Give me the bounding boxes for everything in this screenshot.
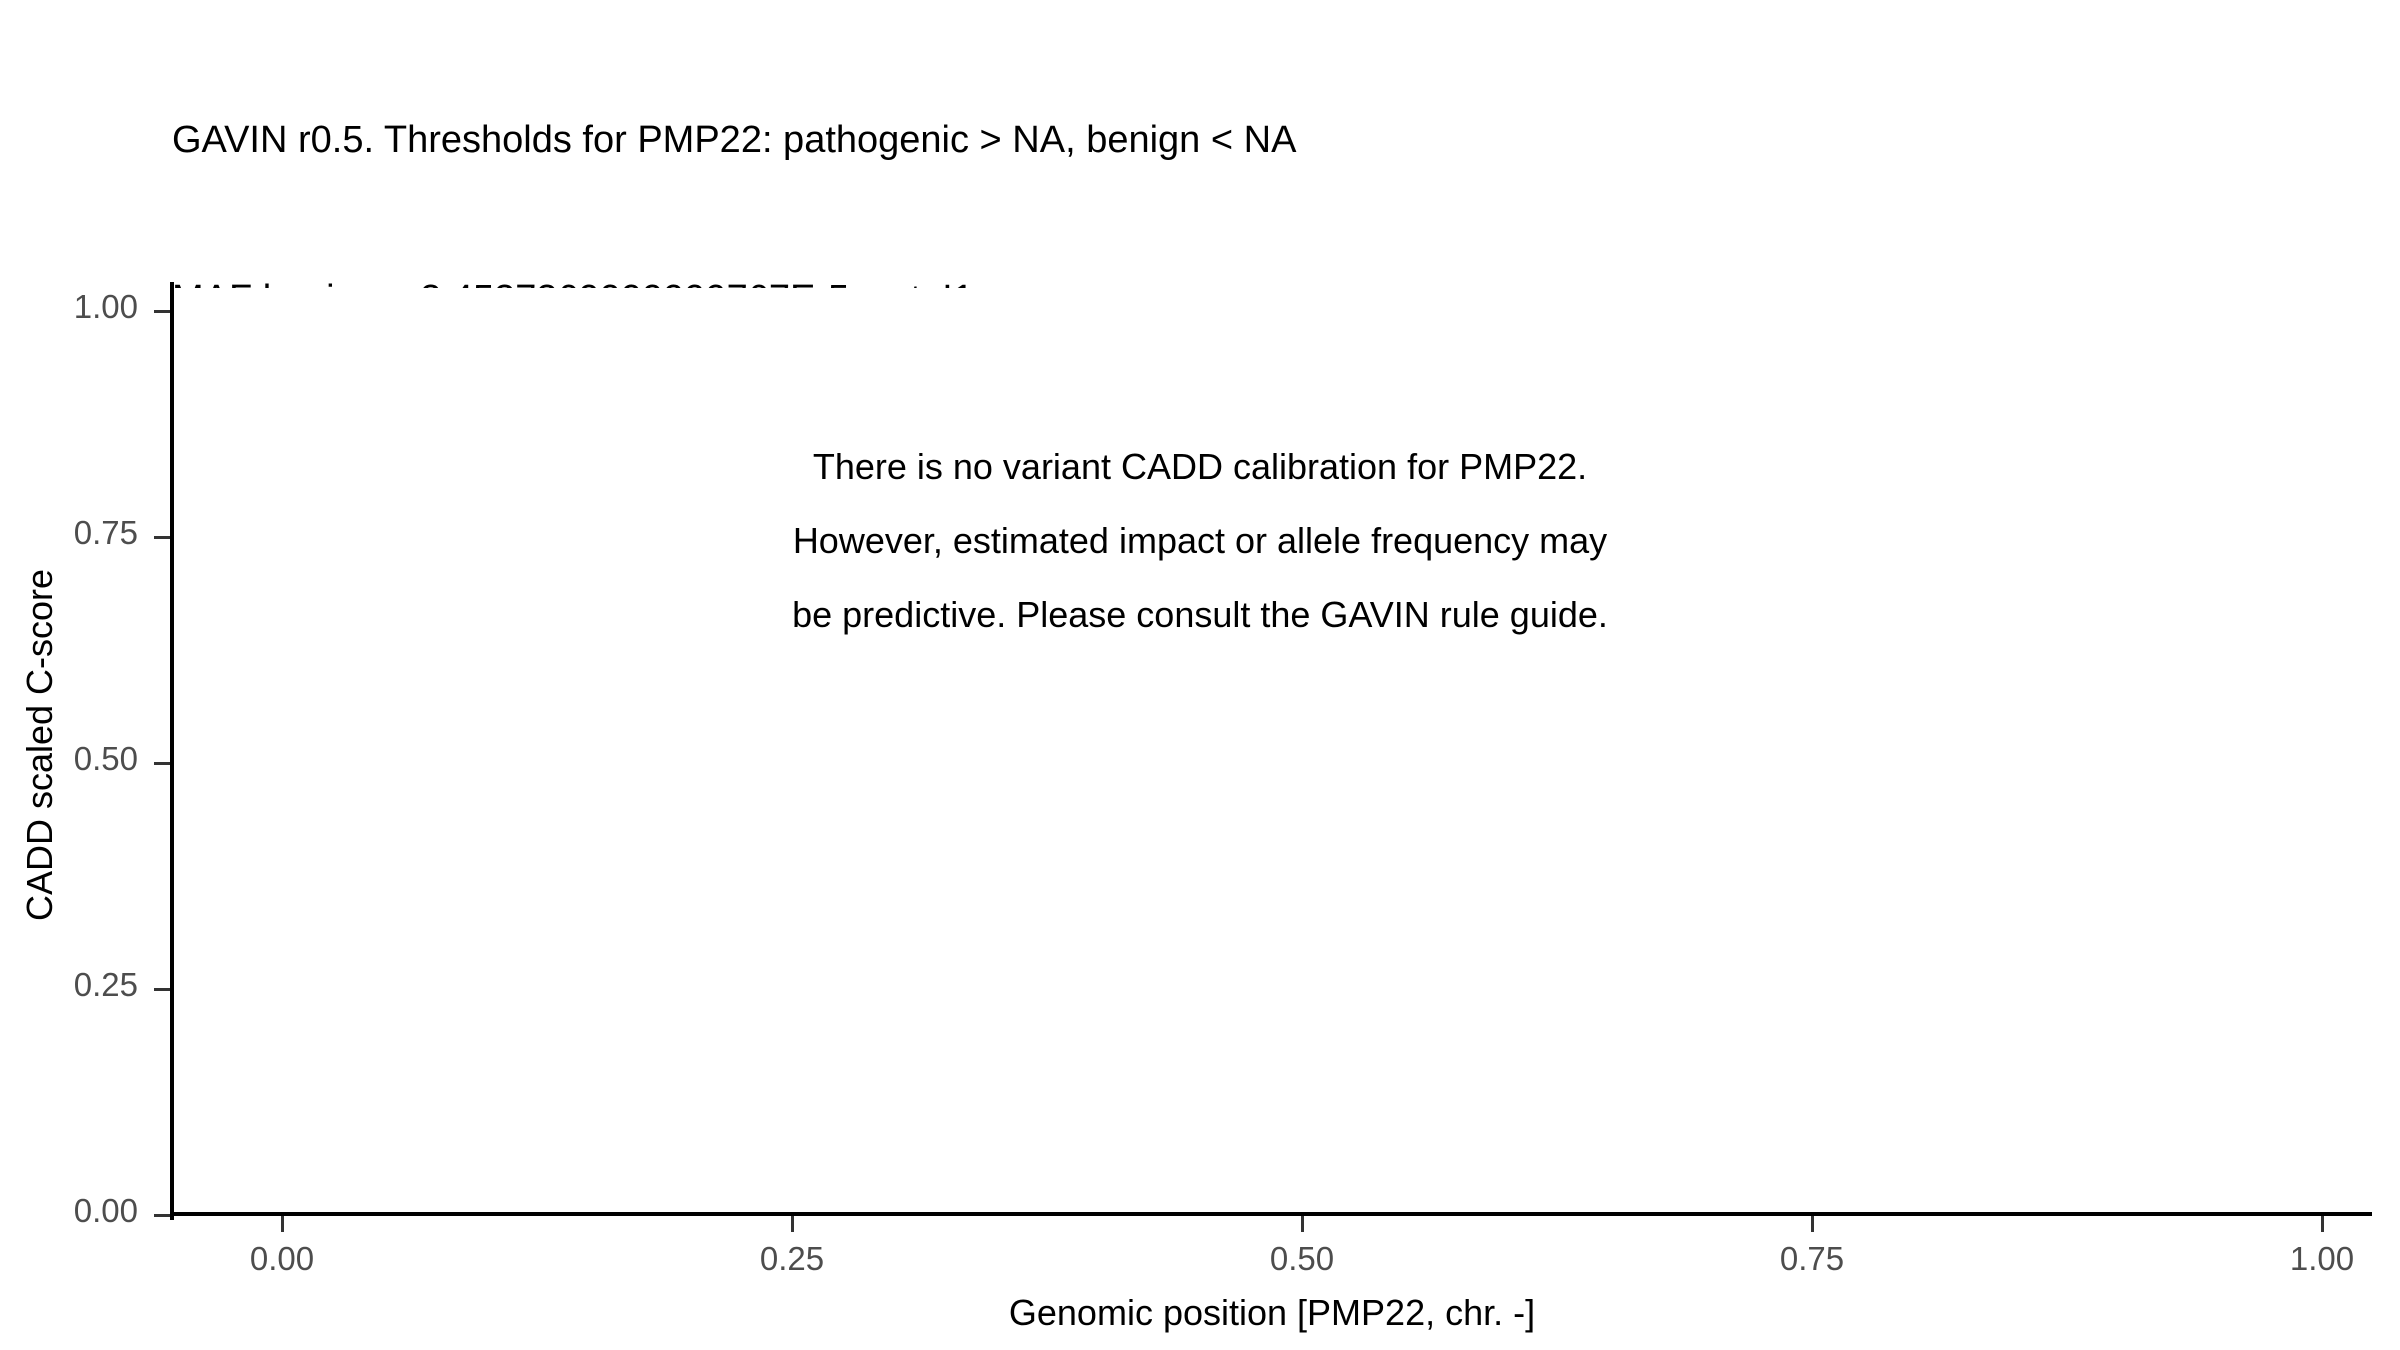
panel-annotation-line-3: be predictive. Please consult the GAVIN … <box>500 578 1900 652</box>
x-tick-mark-0-25 <box>791 1216 794 1232</box>
panel-annotation-line-1: There is no variant CADD calibration for… <box>500 430 1900 504</box>
x-tick-mark-0-75 <box>1811 1216 1814 1232</box>
panel-annotation: There is no variant CADD calibration for… <box>500 430 1900 652</box>
x-tick-label-0-25: 0.25 <box>712 1240 872 1278</box>
x-axis-title: Genomic position [PMP22, chr. -] <box>172 1292 2372 1334</box>
x-tick-mark-0-00 <box>281 1216 284 1232</box>
y-tick-mark-0-00 <box>154 1214 170 1217</box>
x-tick-label-0-50: 0.50 <box>1222 1240 1382 1278</box>
plot-panel: There is no variant CADD calibration for… <box>172 288 2372 1215</box>
x-tick-label-0-00: 0.00 <box>202 1240 362 1278</box>
x-axis-line <box>170 1212 2372 1216</box>
y-tick-mark-0-50 <box>154 762 170 765</box>
y-tick-mark-1-00 <box>154 310 170 313</box>
chart-title-line-1: GAVIN r0.5. Thresholds for PMP22: pathog… <box>172 114 2272 167</box>
y-axis-line <box>170 282 174 1220</box>
x-tick-label-0-75: 0.75 <box>1732 1240 1892 1278</box>
y-tick-mark-0-25 <box>154 988 170 991</box>
y-axis-title: CADD scaled C-score <box>19 275 61 1215</box>
x-tick-mark-1-00 <box>2321 1216 2324 1232</box>
x-tick-mark-0-50 <box>1301 1216 1304 1232</box>
y-tick-mark-0-75 <box>154 536 170 539</box>
chart-canvas: GAVIN r0.5. Thresholds for PMP22: pathog… <box>0 0 2400 1350</box>
x-tick-label-1-00: 1.00 <box>2242 1240 2400 1278</box>
panel-annotation-line-2: However, estimated impact or allele freq… <box>500 504 1900 578</box>
